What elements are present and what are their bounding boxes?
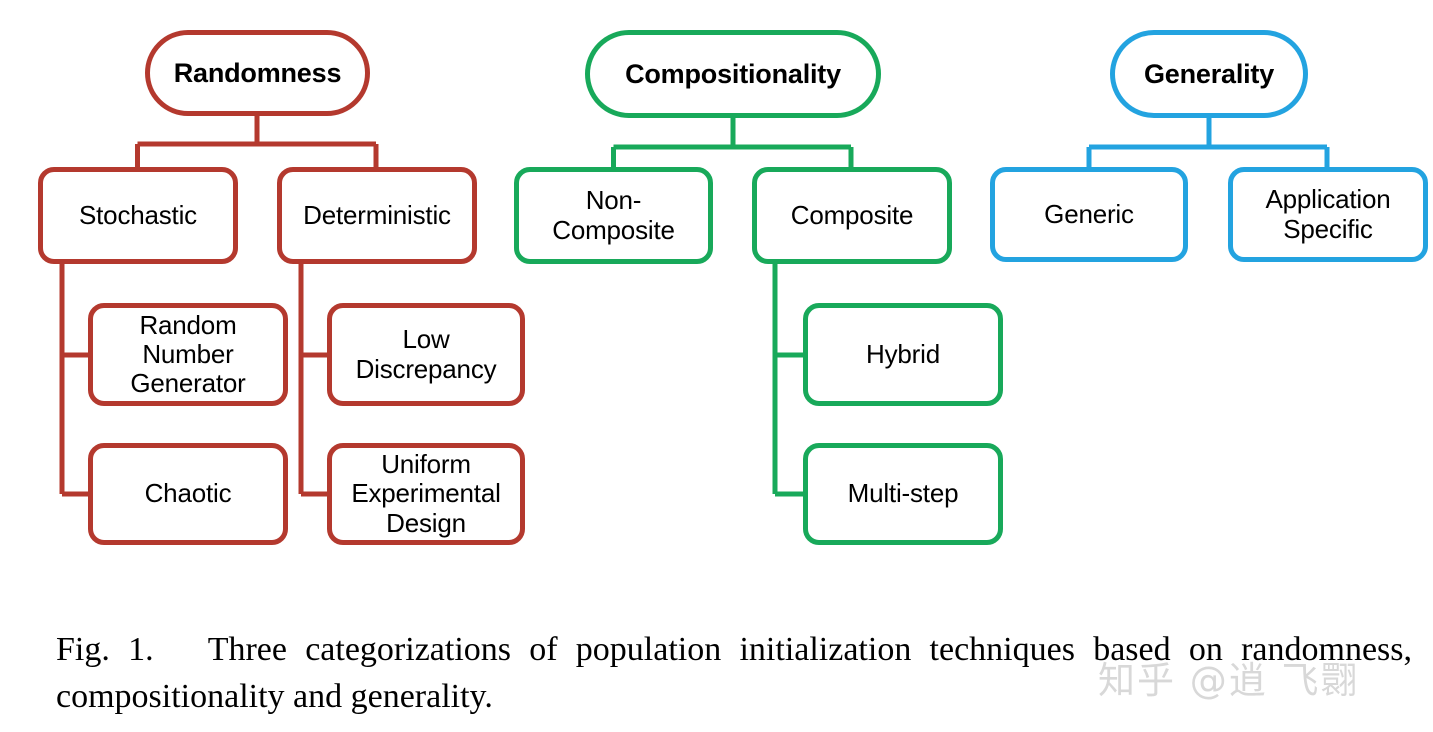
figure-number: Fig. 1. — [56, 631, 154, 668]
node-label: Randomness — [166, 58, 350, 88]
generality-connectors — [1089, 118, 1327, 168]
node-randomness-root[interactable]: Randomness — [145, 30, 370, 116]
node-label: Random Number Generator — [122, 311, 253, 398]
figure-caption: Fig. 1. Three categorizations of populat… — [56, 627, 1412, 721]
node-label: Stochastic — [71, 201, 205, 230]
node-non-composite[interactable]: Non- Composite — [514, 167, 713, 264]
figure-canvas: Randomness Stochastic Deterministic Rand… — [0, 0, 1433, 732]
node-generic[interactable]: Generic — [990, 167, 1188, 262]
node-multi-step[interactable]: Multi-step — [803, 443, 1003, 545]
node-label: Non- Composite — [544, 186, 682, 244]
node-compositionality-root[interactable]: Compositionality — [585, 30, 881, 118]
node-chaotic[interactable]: Chaotic — [88, 443, 288, 545]
node-random-number-generator[interactable]: Random Number Generator — [88, 303, 288, 406]
figure-caption-text: Three categorizations of population init… — [56, 631, 1412, 715]
node-label: Application Specific — [1258, 185, 1399, 243]
node-composite[interactable]: Composite — [752, 167, 952, 264]
node-label: Composite — [783, 201, 921, 230]
node-low-discrepancy[interactable]: Low Discrepancy — [327, 303, 525, 406]
node-label: Compositionality — [617, 59, 849, 89]
node-label: Generic — [1036, 200, 1142, 229]
node-label: Generality — [1136, 59, 1282, 89]
node-label: Uniform Experimental Design — [343, 450, 508, 537]
node-label: Chaotic — [137, 479, 240, 508]
node-label: Low Discrepancy — [348, 325, 505, 383]
node-application-specific[interactable]: Application Specific — [1228, 167, 1428, 262]
node-uniform-experimental-design[interactable]: Uniform Experimental Design — [327, 443, 525, 545]
node-generality-root[interactable]: Generality — [1110, 30, 1308, 118]
node-label: Multi-step — [840, 479, 967, 508]
node-deterministic[interactable]: Deterministic — [277, 167, 477, 264]
node-label: Deterministic — [295, 201, 459, 230]
node-stochastic[interactable]: Stochastic — [38, 167, 238, 264]
node-hybrid[interactable]: Hybrid — [803, 303, 1003, 406]
node-label: Hybrid — [858, 340, 948, 369]
